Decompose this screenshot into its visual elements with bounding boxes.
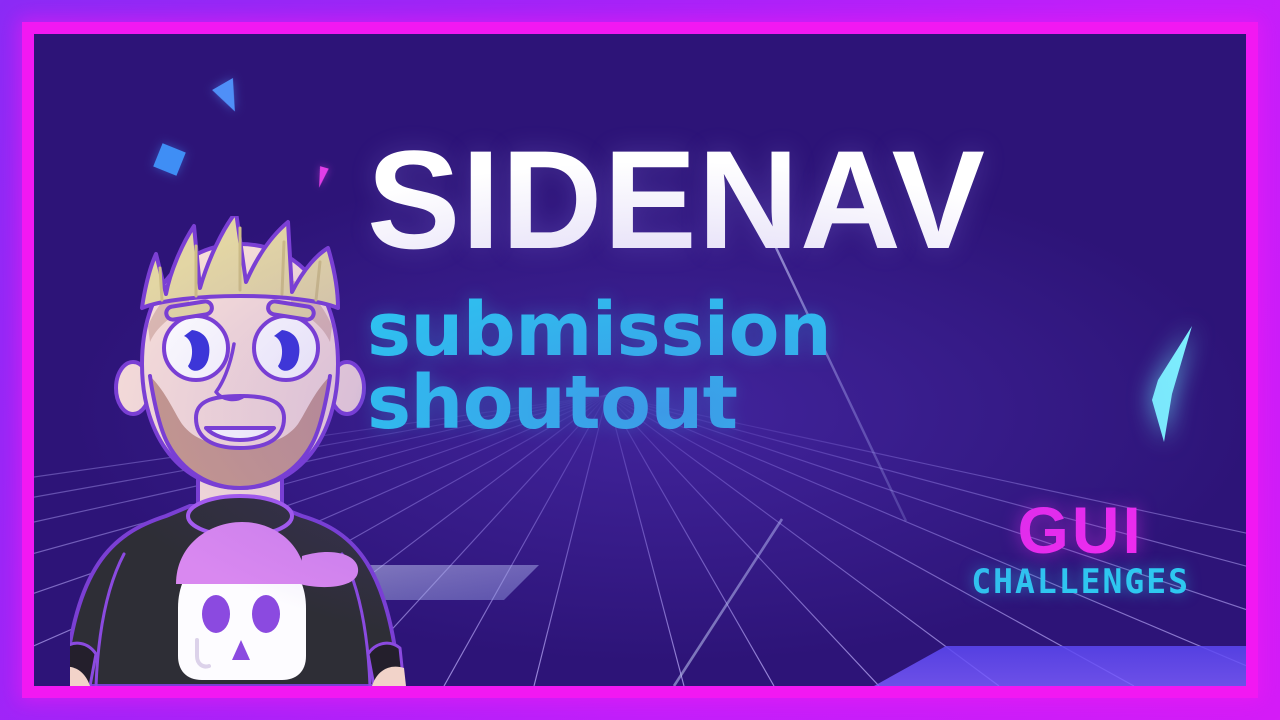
title-block: SIDENAV submission shoutout bbox=[367, 130, 1187, 439]
brand-gui-text: GUI bbox=[971, 499, 1190, 561]
avatar-illustration bbox=[70, 216, 410, 686]
brand-logo: GUI CHALLENGES bbox=[971, 499, 1190, 598]
thumbnail-card: SIDENAV submission shoutout GUI CHALLENG… bbox=[34, 34, 1246, 686]
subtitle-line-2: shoutout bbox=[367, 367, 1187, 440]
grid-highlight-cell-right bbox=[874, 646, 1246, 686]
page-title: SIDENAV bbox=[367, 130, 1187, 270]
thumbnail-stage: SIDENAV submission shoutout GUI CHALLENG… bbox=[0, 0, 1280, 720]
subtitle-line-1: submission bbox=[367, 294, 1187, 367]
brand-challenges-text: CHALLENGES bbox=[971, 565, 1190, 599]
avatar-svg bbox=[70, 216, 410, 686]
